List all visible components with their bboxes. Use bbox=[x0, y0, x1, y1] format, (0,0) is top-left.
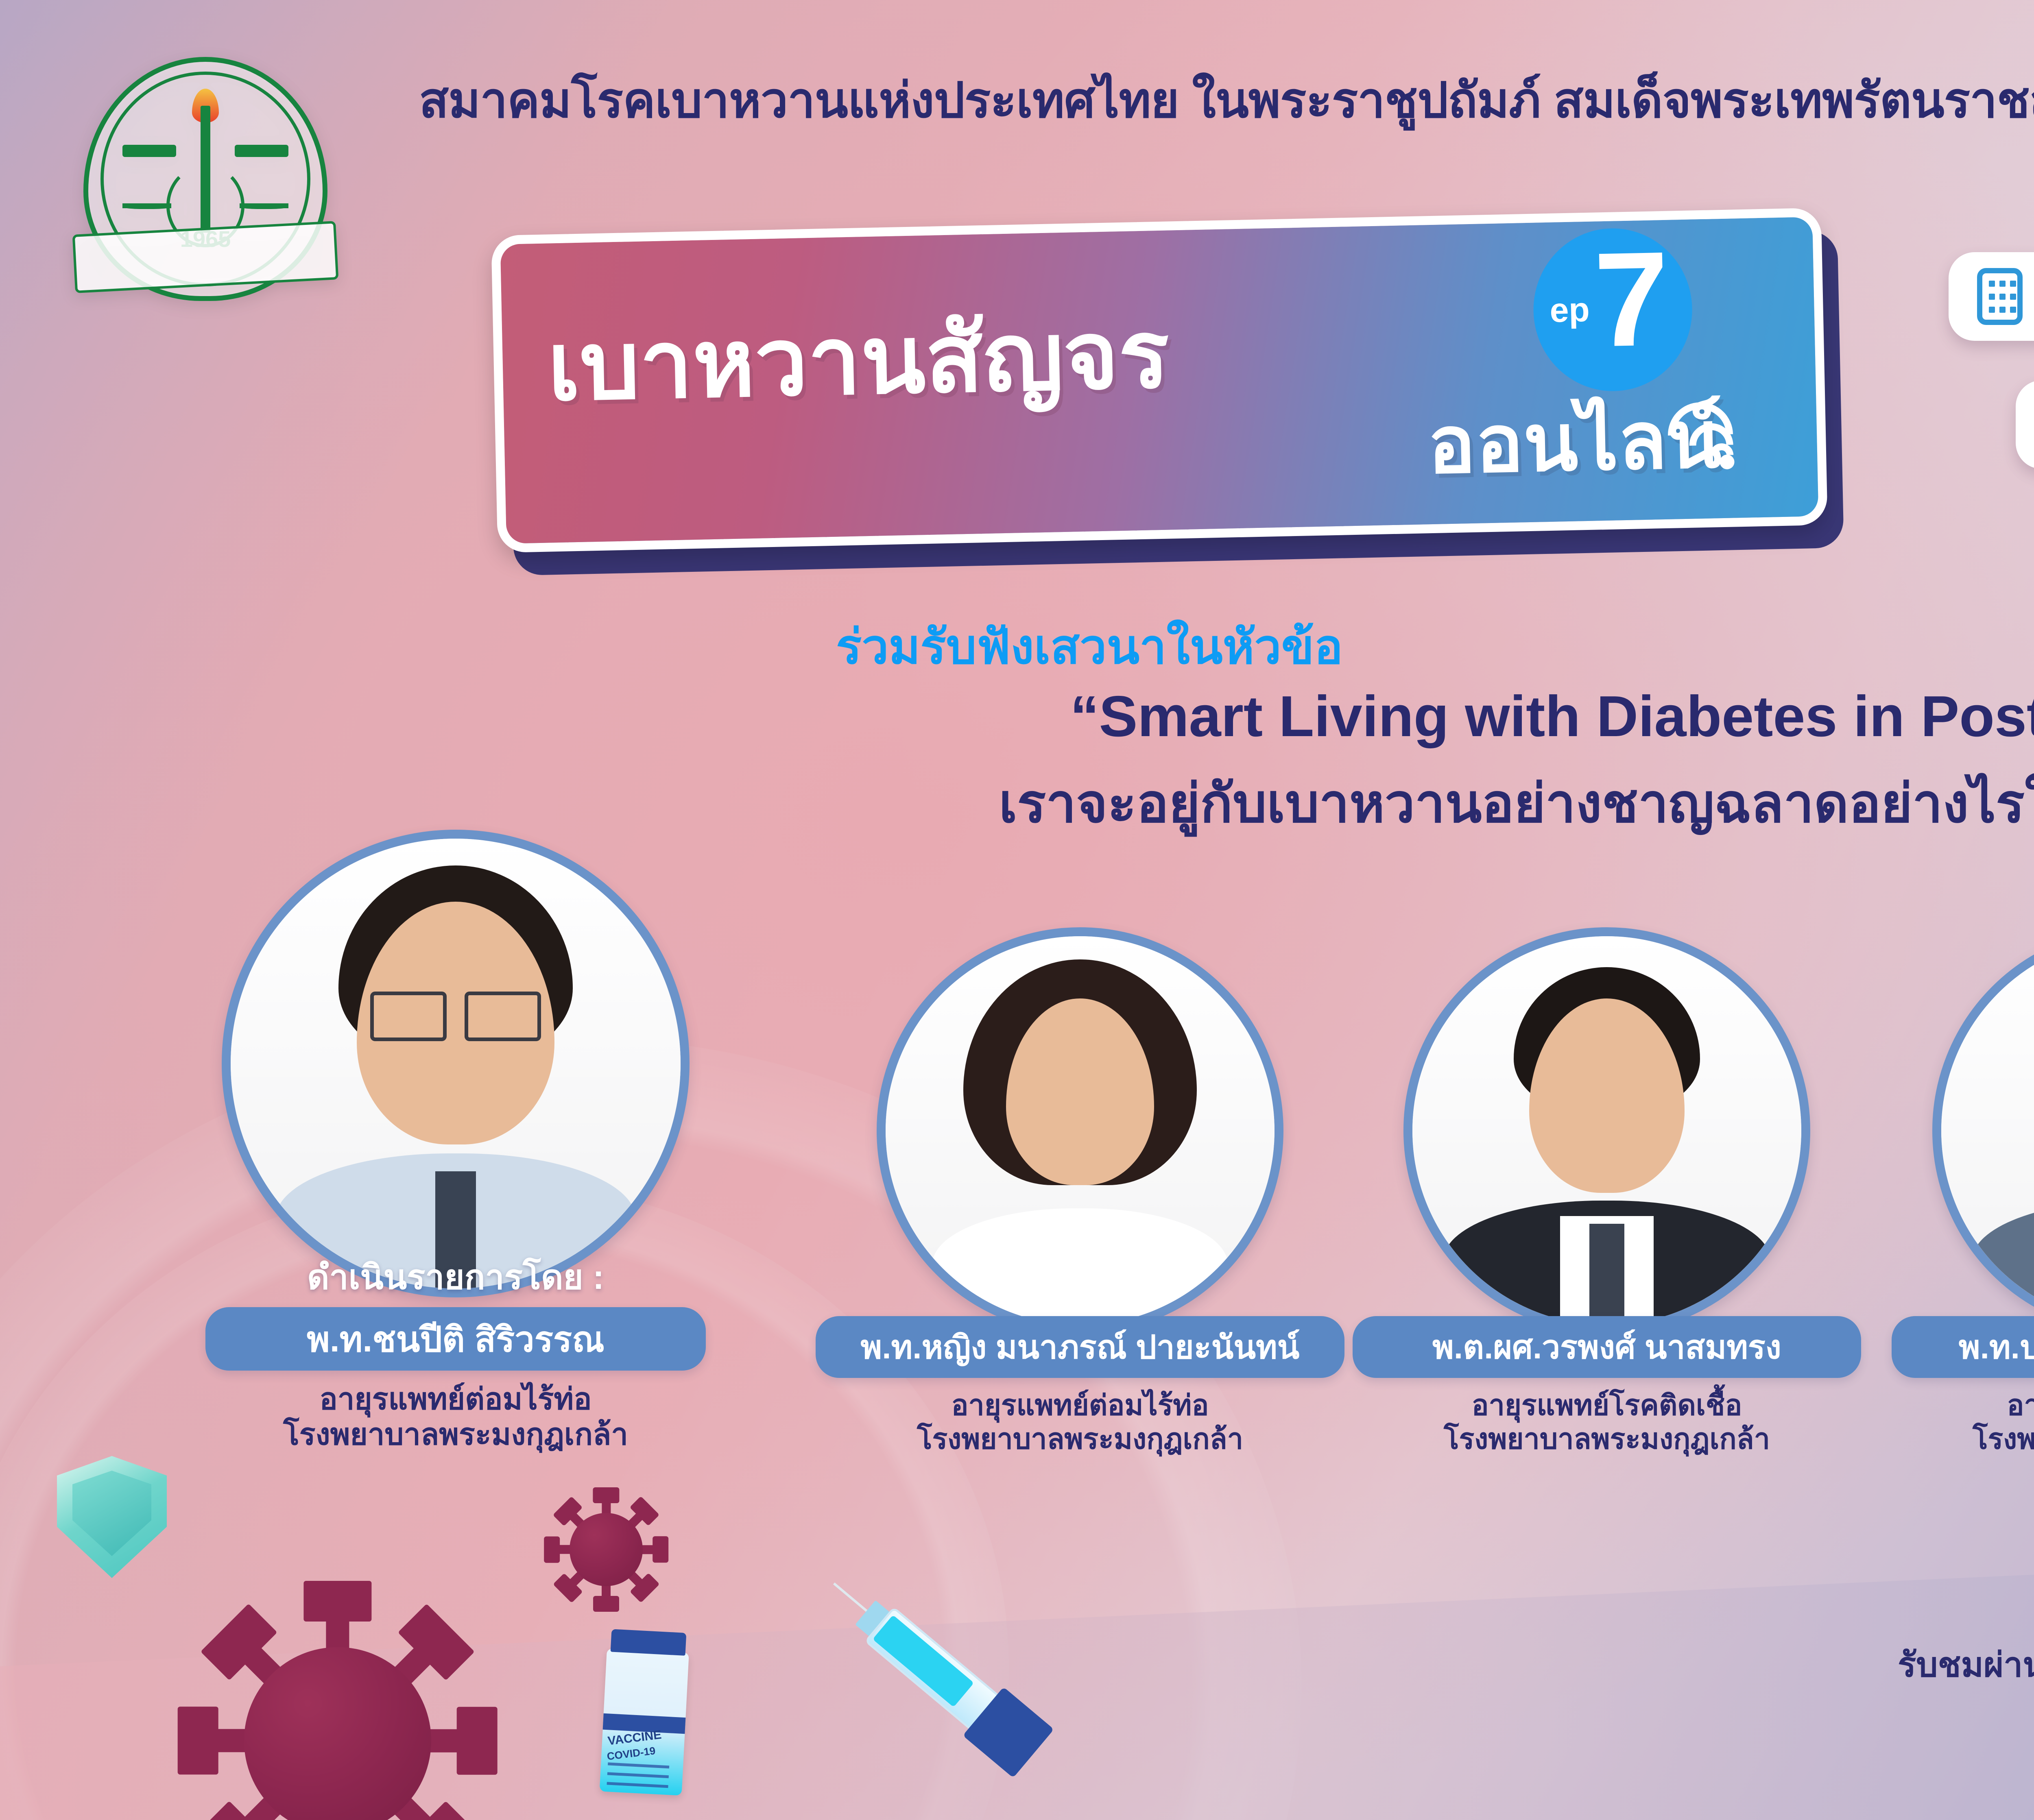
topic-title-thai: เราจะอยู่กับเบาหวานอย่างชาญฉลาดอย่างไรใน… bbox=[807, 761, 2034, 846]
speaker-name: พ.ท.ปริญญา สมัครการไถ bbox=[1959, 1321, 2034, 1373]
speaker-card-3: พ.ต.ผศ.วรพงศ์ นาสมทรง อายุรแพทย์โรคติดเช… bbox=[1347, 927, 1867, 1456]
speaker-role-line2: โรงพยาบาลพระมงกุฎเกล้า bbox=[810, 1422, 1351, 1456]
main-title-plaque: เบาหวานสัญจร ออนไลน์ ep 7 bbox=[494, 222, 1824, 539]
vaccine-vial-icon: VACCINE COVID-19 bbox=[598, 1629, 692, 1796]
avatar bbox=[877, 927, 1283, 1334]
watch-prefix: รับชมผ่านทาง FB สมาคม bbox=[1898, 1637, 2034, 1691]
speaker-role-line1: อายุรแพทย์ต่อมไร้ท่อ bbox=[175, 1381, 736, 1417]
poster-canvas: 1965 สมาคมโรคเบาหวานแห่งประเทศไทย ในพระร… bbox=[0, 0, 2034, 1820]
wifi-icon bbox=[1651, 389, 1738, 472]
episode-badge: ep 7 bbox=[1532, 227, 1694, 393]
coronavirus-icon bbox=[171, 1574, 504, 1820]
speaker-card-4: พ.ท.ปริญญา สมัครการไถ อายุรแพทย์ต่อมไร้ท… bbox=[1871, 927, 2034, 1456]
time-pill: เวลา 14.20-15:30 น. bbox=[2016, 380, 2034, 469]
calendar-icon bbox=[1977, 268, 2023, 325]
speaker-role-line2: โรงพยาบาลพระมงกุฎเกล้า bbox=[175, 1417, 736, 1452]
topic-title-english: “Smart Living with Diabetes in Post-Covi… bbox=[807, 683, 2034, 750]
speaker-lead-label: ดำเนินรายการโดย : bbox=[175, 1249, 736, 1304]
virus-shield-icon bbox=[57, 1456, 167, 1578]
speaker-role-line2: โรงพยาบาลพระมงกุฎเกล้า bbox=[1347, 1422, 1867, 1456]
episode-number: 7 bbox=[1593, 231, 1670, 367]
association-seal-logo: 1965 bbox=[83, 57, 327, 301]
speaker-name: พ.ท.ชนปีติ สิริวรรณ bbox=[307, 1311, 605, 1367]
speaker-name-bar: พ.ต.ผศ.วรพงศ์ นาสมทรง bbox=[1353, 1316, 1861, 1378]
title-line-1: เบาหวานสัญจร bbox=[546, 279, 1171, 442]
coronavirus-icon bbox=[541, 1484, 671, 1615]
page-title: สมาคมโรคเบาหวานแห่งประเทศไทย ในพระราชูปถ… bbox=[419, 61, 2034, 139]
speaker-role-line1: อายุรแพทย์ต่อมไร้ท่อ bbox=[1871, 1388, 2034, 1422]
speaker-card-1: ดำเนินรายการโดย : พ.ท.ชนปีติ สิริวรรณ อา… bbox=[175, 830, 736, 1452]
speaker-role: อายุรแพทย์ต่อมไร้ท่อ โรงพยาบาลพระมงกุฎเก… bbox=[1871, 1388, 2034, 1456]
speaker-role: อายุรแพทย์โรคติดเชื้อ โรงพยาบาลพระมงกุฎเ… bbox=[1347, 1388, 1867, 1456]
speaker-role: อายุรแพทย์ต่อมไร้ท่อ โรงพยาบาลพระมงกุฎเก… bbox=[810, 1388, 1351, 1456]
speaker-role-line2: โรงพยาบาลพระมงกุฎเกล้า bbox=[1871, 1422, 2034, 1456]
episode-label: ep bbox=[1550, 290, 1590, 330]
date-pill: วันพุธที่ 25 มกราคม 2565 bbox=[1949, 252, 2034, 341]
speaker-role: อายุรแพทย์ต่อมไร้ท่อ โรงพยาบาลพระมงกุฎเก… bbox=[175, 1381, 736, 1452]
avatar bbox=[1932, 927, 2034, 1334]
avatar bbox=[222, 830, 690, 1297]
speaker-card-2: พ.ท.หญิง มนาภรณ์ ปายะนันทน์ อายุรแพทย์ต่… bbox=[810, 927, 1351, 1456]
speaker-name: พ.ท.หญิง มนาภรณ์ ปายะนันทน์ bbox=[861, 1321, 1300, 1373]
topic-lead-text: ร่วมรับฟังเสวนาในหัวข้อ bbox=[836, 608, 1343, 684]
speaker-role-line1: อายุรแพทย์โรคติดเชื้อ bbox=[1347, 1388, 1867, 1422]
speaker-name: พ.ต.ผศ.วรพงศ์ นาสมทรง bbox=[1432, 1321, 1781, 1373]
avatar bbox=[1403, 927, 1810, 1334]
speaker-name-bar: พ.ท.หญิง มนาภรณ์ ปายะนันทน์ bbox=[816, 1316, 1344, 1378]
speaker-name-bar: พ.ท.ชนปีติ สิริวรรณ bbox=[205, 1307, 706, 1371]
speaker-name-bar: พ.ท.ปริญญา สมัครการไถ bbox=[1892, 1316, 2034, 1378]
facebook-watch-line: รับชมผ่านทาง FB สมาคม f สมาคมโรคเบาหวานแ… bbox=[1898, 1637, 2034, 1691]
speaker-role-line1: อายุรแพทย์ต่อมไร้ท่อ bbox=[810, 1388, 1351, 1422]
